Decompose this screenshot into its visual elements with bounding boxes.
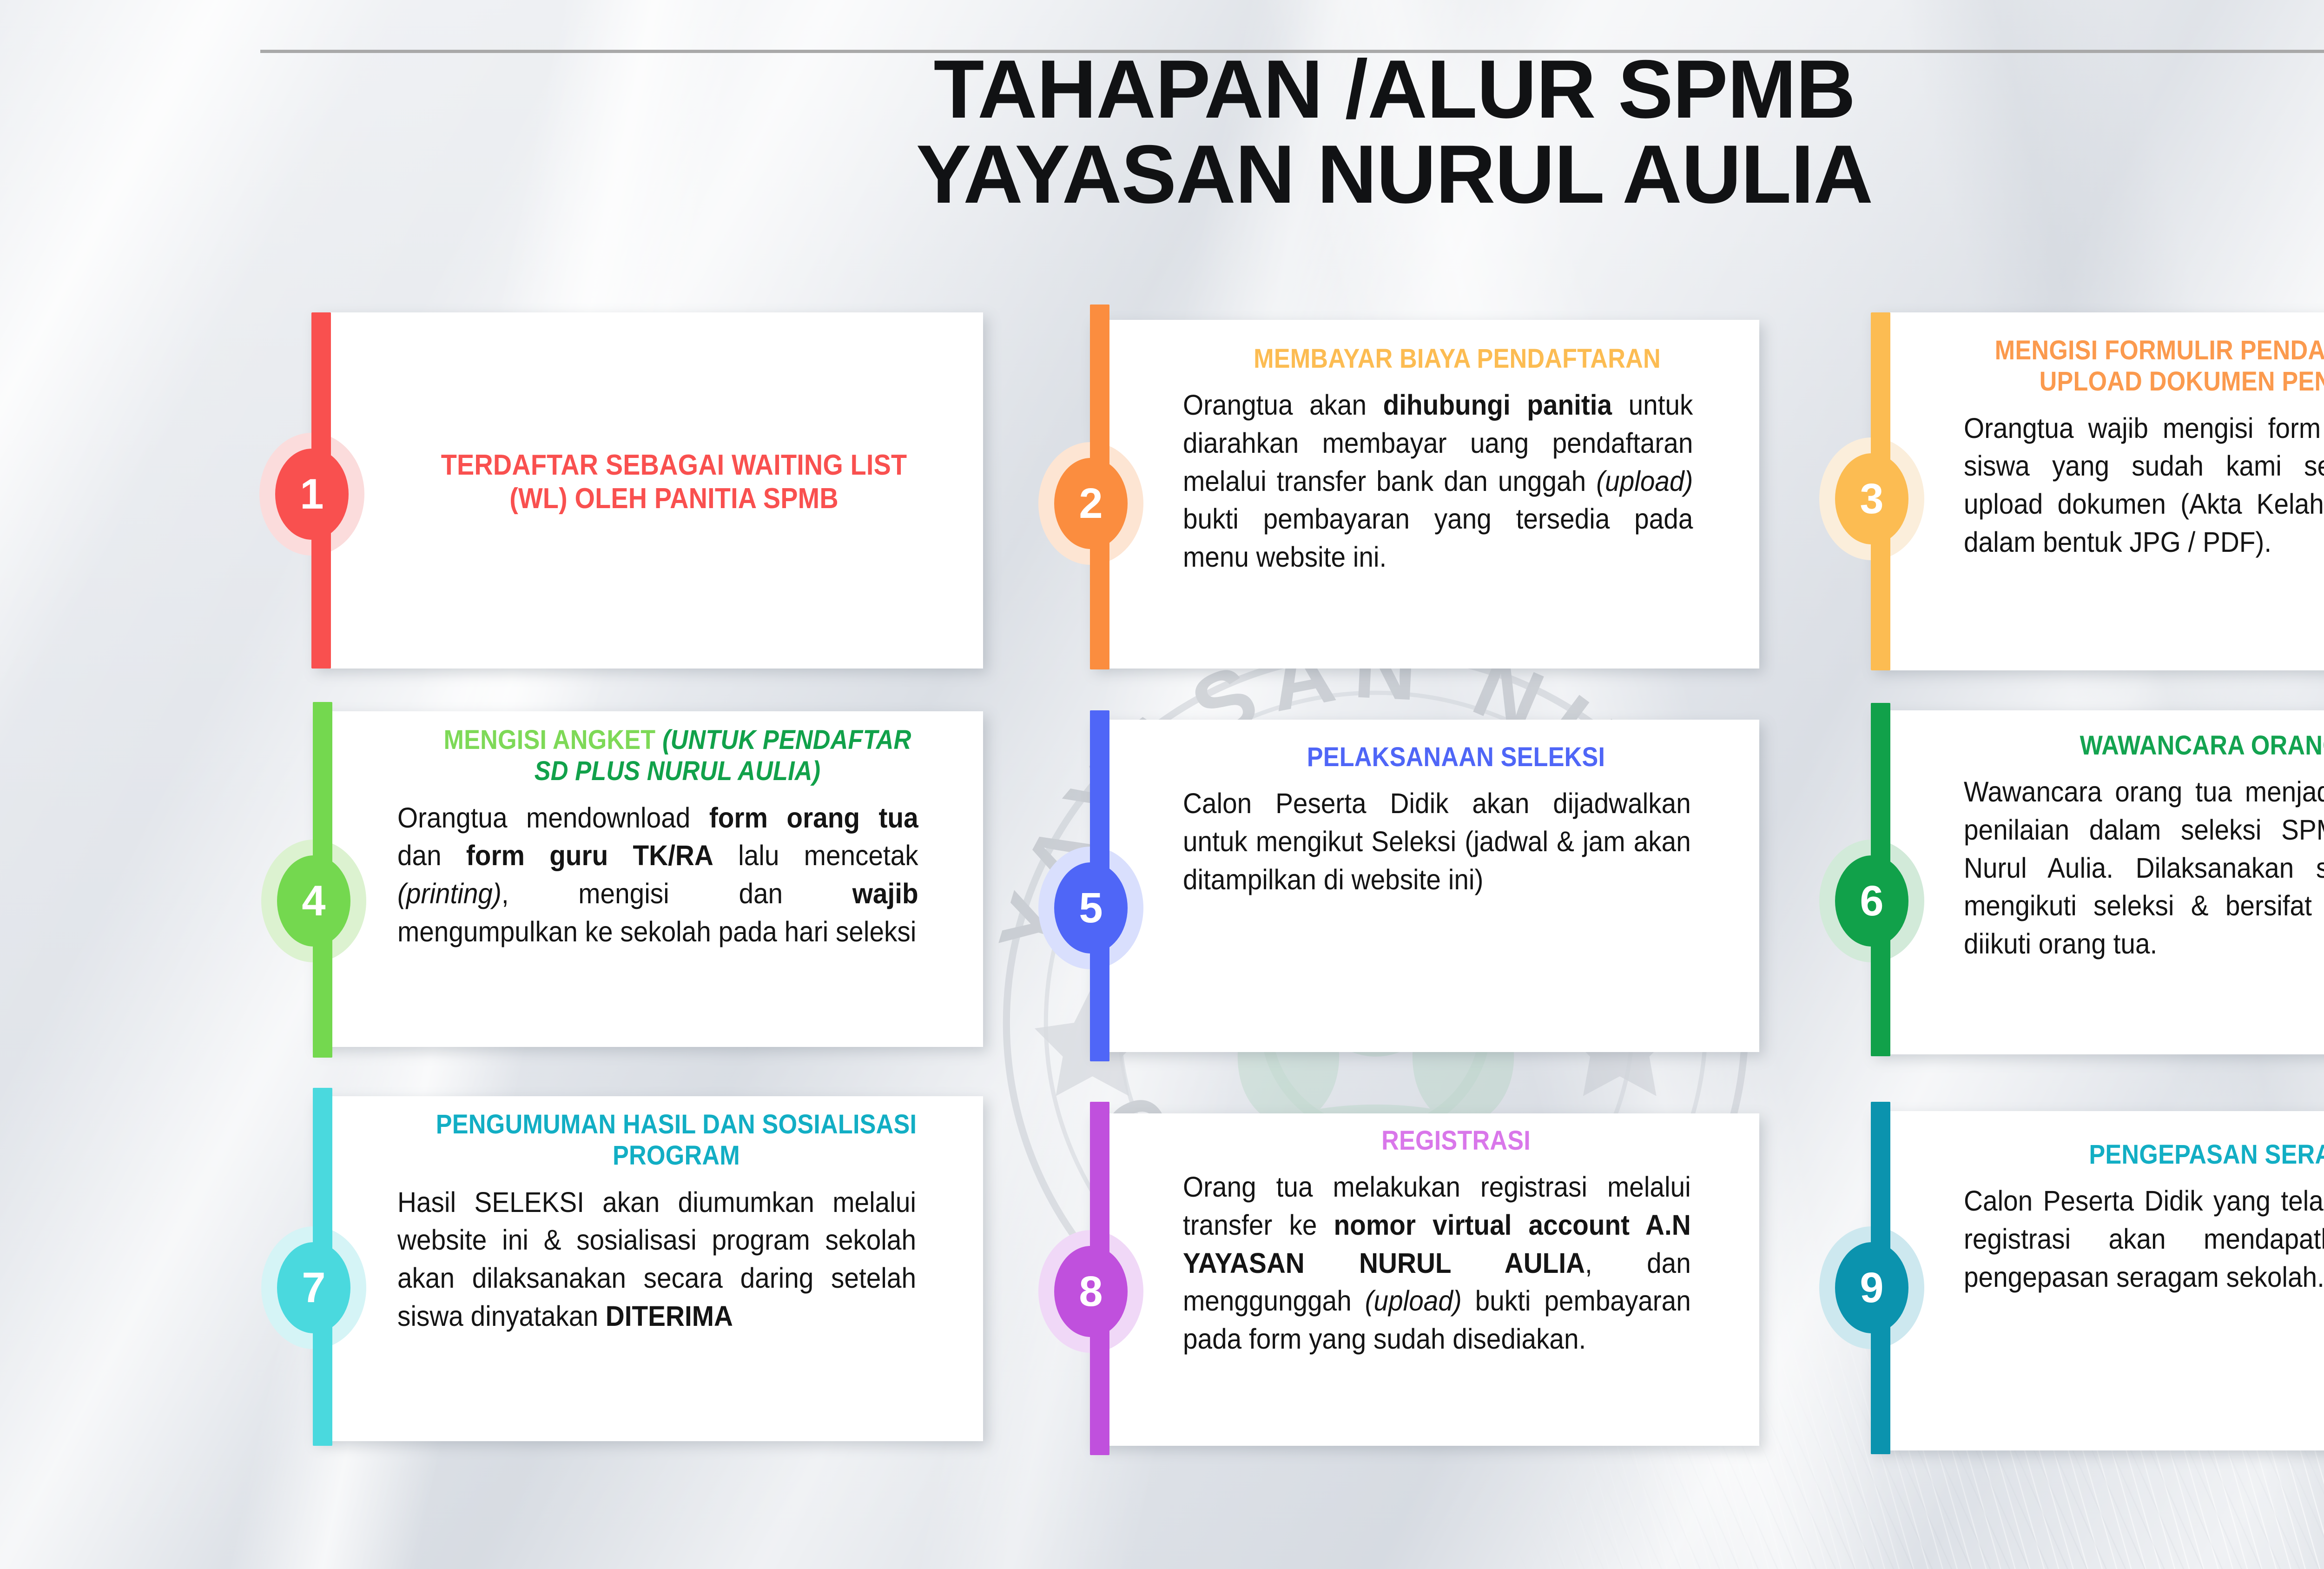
step-content-2: MEMBAYAR BIAYA PENDAFTARANOrangtua akan … bbox=[1183, 343, 1731, 576]
step-title-8: REGISTRASI bbox=[1210, 1125, 1702, 1156]
step-body-2: Orangtua akan dihubungi panitia untuk di… bbox=[1183, 386, 1693, 576]
step-body-5: Calon Peserta Didik akan dijadwalkan unt… bbox=[1183, 785, 1691, 899]
step-title-main: MENGISI FORMULIR PENDAFTARAN DAN UPLOAD … bbox=[1995, 335, 2324, 397]
step-title-main: PENGUMUMAN HASIL DAN SOSIALISASI PROGRAM bbox=[436, 1109, 917, 1171]
step-number-label: 3 bbox=[1860, 477, 1883, 520]
step-content-8: REGISTRASIOrang tua melakukan registrasi… bbox=[1183, 1125, 1729, 1358]
step-title-7: PENGUMUMAN HASIL DAN SOSIALISASI PROGRAM bbox=[425, 1109, 927, 1172]
step-body-4: Orangtua mendownload form orang tua dan … bbox=[397, 799, 918, 951]
step-body-9: Calon Peserta Didik yang telah melakukan… bbox=[1964, 1182, 2324, 1296]
step-title-main: MENGISI ANGKET bbox=[443, 725, 662, 755]
step-number-label: 6 bbox=[1860, 880, 1883, 922]
step-content-3: MENGISI FORMULIR PENDAFTARAN DAN UPLOAD … bbox=[1964, 335, 2324, 561]
step-number-label: 7 bbox=[302, 1266, 325, 1309]
step-title-5: PELAKSANAAN SELEKSI bbox=[1210, 741, 1702, 773]
step-title-main: REGISTRASI bbox=[1381, 1125, 1531, 1156]
step-title-3: MENGISI FORMULIR PENDAFTARAN DAN UPLOAD … bbox=[1991, 335, 2324, 397]
step-number-badge-8: 8 bbox=[1054, 1246, 1128, 1337]
step-number-badge-5: 5 bbox=[1054, 862, 1128, 953]
step-number-label: 8 bbox=[1079, 1270, 1103, 1313]
step-content-4: MENGISI ANGKET (UNTUK PENDAFTAR SD PLUS … bbox=[397, 724, 957, 951]
step-title-main: PENGEPASAN SERAGAM bbox=[2089, 1139, 2324, 1170]
step-content-9: PENGEPASAN SERAGAMCalon Peserta Didik ya… bbox=[1964, 1139, 2324, 1296]
step-number-label: 1 bbox=[300, 473, 324, 516]
step-title-9: PENGEPASAN SERAGAM bbox=[1991, 1139, 2324, 1170]
step-number-badge-3: 3 bbox=[1835, 453, 1908, 544]
step-title-2: MEMBAYAR BIAYA PENDAFTARAN bbox=[1210, 343, 1704, 374]
step-title-4: MENGISI ANGKET (UNTUK PENDAFTAR SD PLUS … bbox=[425, 724, 930, 787]
step-body-3: Orangtua wajib mengisi form pendaftaran … bbox=[1964, 410, 2324, 562]
step-title-main: PELAKSANAAN SELEKSI bbox=[1307, 742, 1605, 772]
step-number-badge-6: 6 bbox=[1835, 855, 1908, 947]
step-number-badge-1: 1 bbox=[275, 449, 349, 540]
step-content-5: PELAKSANAAN SELEKSICalon Peserta Didik a… bbox=[1183, 741, 1729, 899]
step-content-7: PENGUMUMAN HASIL DAN SOSIALISASI PROGRAM… bbox=[397, 1109, 955, 1335]
infographic-slide: YAYASAN NURUL AULIA CITE TAHAPAN /ALUR S… bbox=[0, 0, 2324, 1569]
step-content-1: TERDAFTAR SEBAGAI WAITING LIST (WL) OLEH… bbox=[400, 449, 948, 516]
step-body-8: Orang tua melakukan registrasi melalui t… bbox=[1183, 1168, 1691, 1358]
step-title-1: TERDAFTAR SEBAGAI WAITING LIST (WL) OLEH… bbox=[427, 449, 921, 516]
step-title-main: MEMBAYAR BIAYA PENDAFTARAN bbox=[1254, 344, 1661, 374]
step-number-badge-9: 9 bbox=[1835, 1242, 1908, 1333]
step-number-badge-7: 7 bbox=[277, 1242, 350, 1333]
step-content-6: WAWANCARA ORANG TUAWawancara orang tua m… bbox=[1964, 730, 2324, 963]
step-number-label: 2 bbox=[1079, 482, 1103, 525]
step-title-6: WAWANCARA ORANG TUA bbox=[1991, 730, 2324, 761]
step-number-badge-2: 2 bbox=[1054, 458, 1128, 549]
step-title-main: WAWANCARA ORANG TUA bbox=[2080, 730, 2324, 761]
steps-grid: 1TERDAFTAR SEBAGAI WAITING LIST (WL) OLE… bbox=[0, 0, 2324, 1569]
step-body-6: Wawancara orang tua menjadi salah satu p… bbox=[1964, 773, 2324, 963]
step-number-label: 9 bbox=[1860, 1266, 1883, 1309]
step-title-main: TERDAFTAR SEBAGAI WAITING LIST (WL) OLEH… bbox=[441, 449, 907, 515]
step-number-badge-4: 4 bbox=[277, 855, 350, 947]
step-body-7: Hasil SELEKSI akan diumumkan melalui web… bbox=[397, 1184, 916, 1336]
step-number-label: 5 bbox=[1079, 887, 1103, 929]
step-number-label: 4 bbox=[302, 880, 325, 922]
